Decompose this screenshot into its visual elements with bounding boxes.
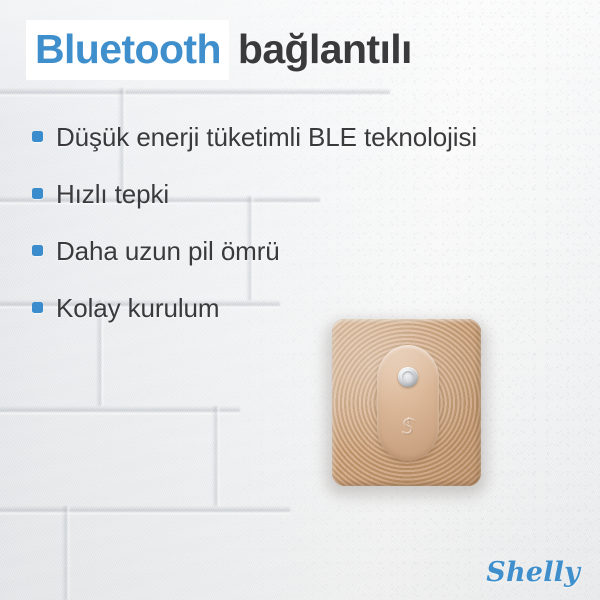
headline-rest: bağlantılı [229, 29, 412, 70]
headline-highlight: Bluetooth [26, 20, 229, 80]
list-item-label: Düşük enerji tüketimli BLE teknolojisi [56, 124, 477, 150]
list-item: Kolay kurulum [32, 279, 572, 336]
list-item: Düşük enerji tüketimli BLE teknolojisi [32, 108, 572, 165]
page-title: Bluetooth bağlantılı [26, 20, 412, 80]
bullet-square-icon [32, 131, 43, 142]
feature-list: Düşük enerji tüketimli BLE teknolojisi H… [32, 108, 572, 336]
list-item-label: Kolay kurulum [56, 295, 219, 321]
list-item: Daha uzun pil ömrü [32, 222, 572, 279]
plate-bevel [332, 319, 481, 486]
bullet-square-icon [32, 302, 43, 313]
switch-plate [332, 319, 481, 486]
product-image [332, 319, 481, 486]
list-item-label: Hızlı tepki [56, 181, 169, 207]
shelly-logo: Shelly [486, 559, 580, 586]
promo-banner: Bluetooth bağlantılı Düşük enerji tüketi… [0, 0, 600, 600]
list-item: Hızlı tepki [32, 165, 572, 222]
list-item-label: Daha uzun pil ömrü [56, 238, 280, 264]
bullet-square-icon [32, 245, 43, 256]
bullet-square-icon [32, 188, 43, 199]
